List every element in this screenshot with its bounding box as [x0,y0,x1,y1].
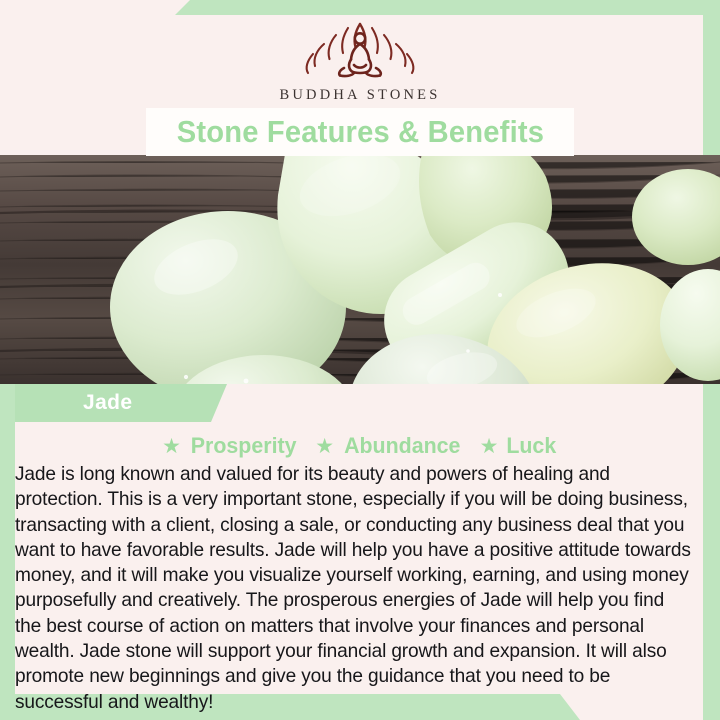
star-icon: ★ [315,436,334,457]
keyword-prosperity: ★ Prosperity [162,433,299,459]
title-banner: Stone Features & Benefits [146,108,574,156]
keyword-row: ★ Prosperity ★ Abundance ★ Luck [0,430,720,462]
photo-caption-band: Jade [15,384,227,422]
description-paragraph: Jade is long known and valued for its be… [15,462,695,715]
keyword-label: Luck [507,433,557,459]
lotus-meditation-figure-icon [296,18,424,84]
brand-header: BUDDHA STONES [0,0,720,108]
jade-stones-illustration [0,155,720,384]
brand-name: BUDDHA STONES [280,87,441,104]
keyword-luck: ★ Luck [480,433,558,459]
keyword-abundance: ★ Abundance [315,433,463,459]
keyword-label: Prosperity [191,433,297,459]
star-icon: ★ [162,436,181,457]
star-icon: ★ [480,436,499,457]
jade-stones-photo [0,155,720,384]
page-title: Stone Features & Benefits [176,114,543,150]
infographic-page: BUDDHA STONES Stone Features & Benefits [0,0,720,720]
keyword-label: Abundance [344,433,460,459]
stone-name-label: Jade [83,391,132,415]
